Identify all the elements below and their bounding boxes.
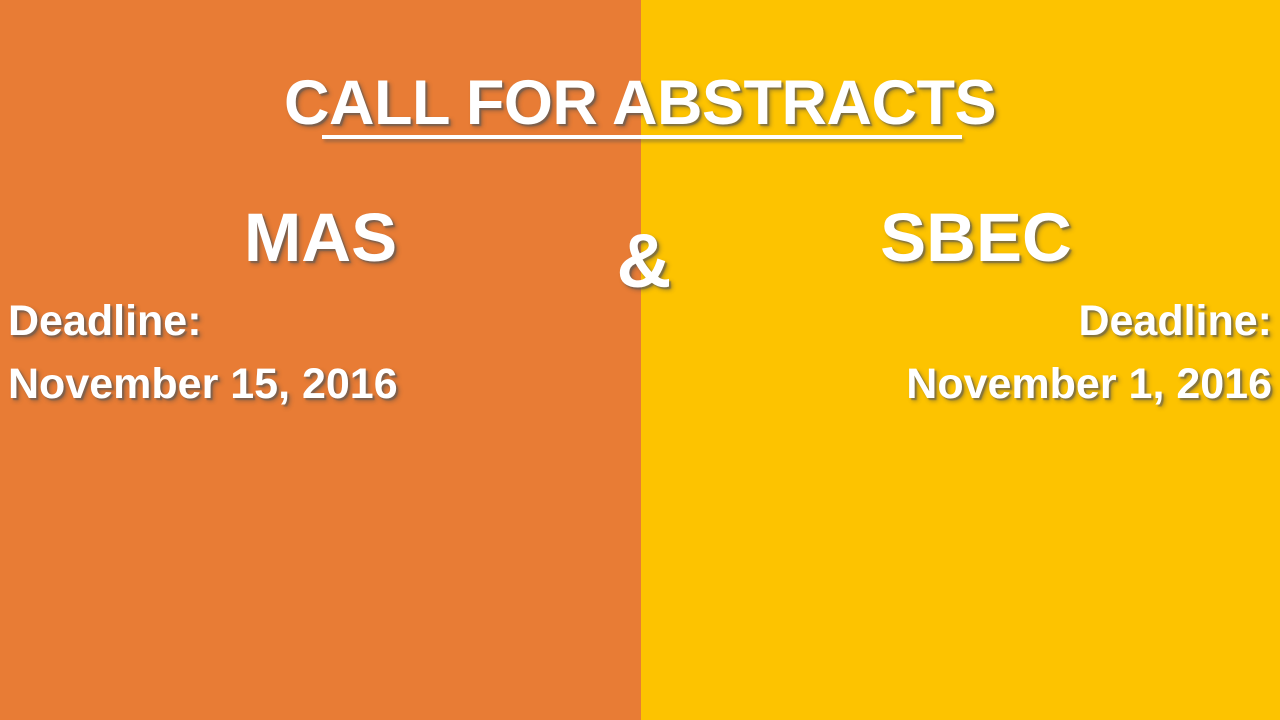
right-deadline-block: Deadline: November 1, 2016 (712, 290, 1272, 416)
page-title: CALL FOR ABSTRACTS (284, 72, 996, 134)
right-conference-acronym: SBEC (672, 203, 1280, 272)
right-deadline-label: Deadline: (712, 290, 1272, 353)
right-deadline-date: November 1, 2016 (712, 353, 1272, 416)
ampersand-separator: & (604, 222, 684, 302)
left-deadline-label: Deadline: (8, 290, 568, 353)
left-conference-acronym: MAS (0, 203, 641, 272)
left-deadline-date: November 15, 2016 (8, 353, 568, 416)
slide-canvas: CALL FOR ABSTRACTS MAS & SBEC Deadline: … (0, 0, 1280, 720)
title-container: CALL FOR ABSTRACTS (0, 72, 1280, 134)
left-deadline-block: Deadline: November 15, 2016 (8, 290, 568, 416)
title-underline-rule (322, 135, 962, 139)
